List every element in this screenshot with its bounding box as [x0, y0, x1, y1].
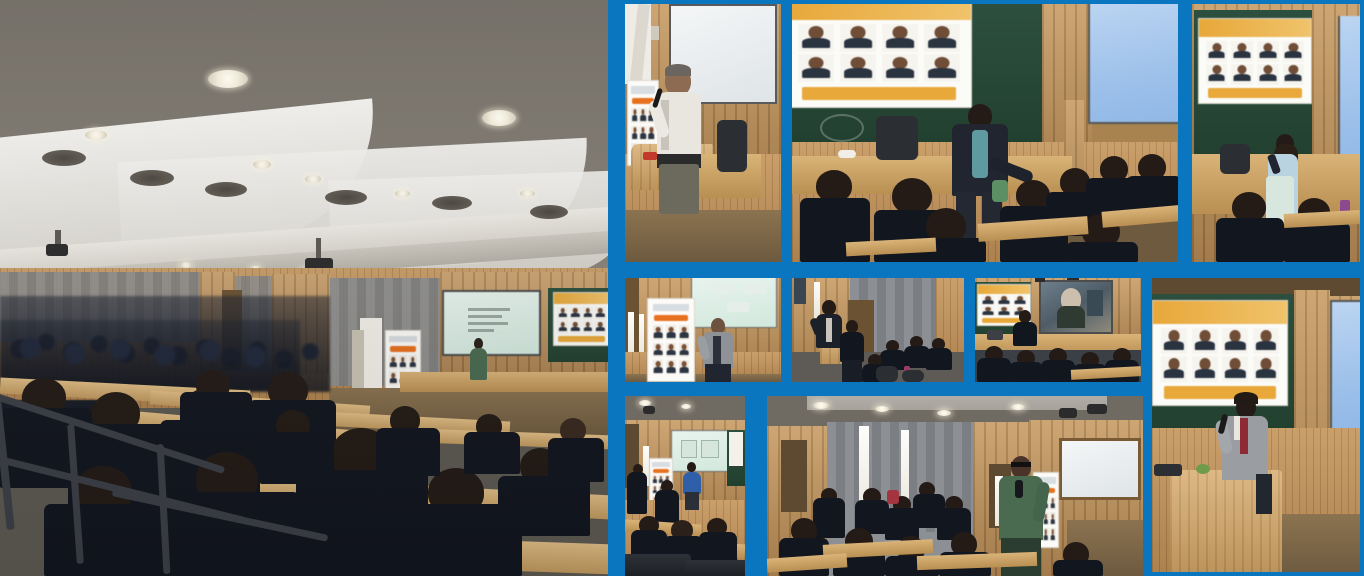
event-banner — [553, 292, 608, 346]
projection-screen — [1088, 4, 1178, 124]
collage-canvas: Event photo collage — auditorium seminar… — [0, 0, 1364, 576]
ceiling-light — [305, 175, 321, 183]
speaker-figure — [822, 300, 836, 315]
ceiling-light — [253, 160, 271, 169]
ceiling-light — [85, 130, 107, 140]
collage-tile-8[interactable] — [625, 396, 745, 576]
speaker-figure — [683, 472, 701, 494]
collage-tile-2[interactable] — [792, 4, 1178, 262]
speaker-figure — [1011, 456, 1031, 478]
collage-tile-4[interactable] — [625, 278, 781, 382]
photo-collage — [608, 0, 1364, 576]
collage-tile-1[interactable] — [625, 4, 781, 262]
projection-screen — [671, 430, 729, 472]
collage-tile-9[interactable] — [767, 396, 1143, 576]
collage-tile-6[interactable] — [975, 278, 1141, 382]
ceiling-light — [520, 190, 535, 197]
ceiling-light — [208, 70, 248, 88]
collage-tile-5[interactable] — [792, 278, 964, 382]
event-banner — [1152, 300, 1288, 406]
main-auditorium-photo — [0, 0, 608, 576]
collage-tile-3[interactable] — [1192, 4, 1360, 262]
projection-screen — [1059, 438, 1141, 500]
collage-tile-7[interactable] — [1152, 278, 1360, 572]
standee-banner — [647, 298, 695, 382]
ceiling-light — [395, 190, 410, 197]
event-banner — [792, 4, 972, 108]
event-banner — [1198, 18, 1312, 104]
projection-screen — [1330, 300, 1360, 444]
ceiling-light — [482, 110, 516, 126]
